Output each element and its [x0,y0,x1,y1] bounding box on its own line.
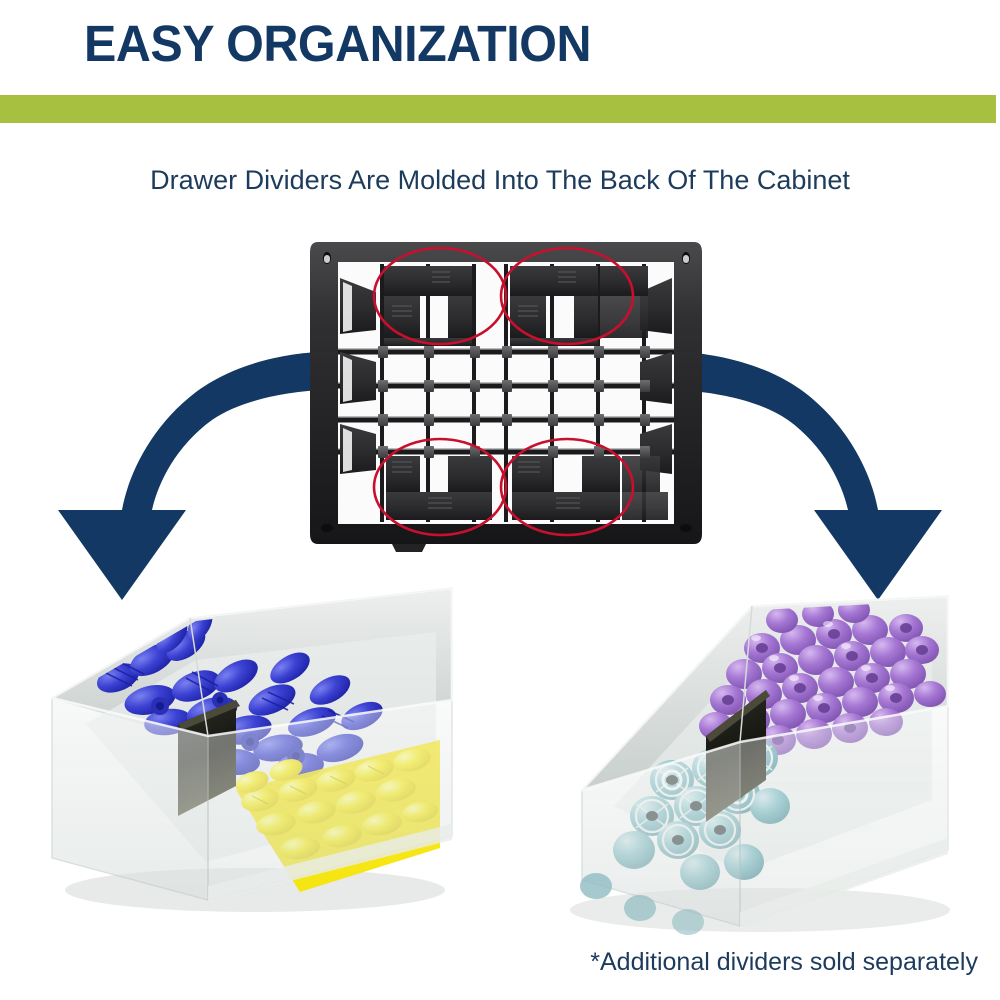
blue-anchor-contents [93,604,387,781]
grid-struts [382,264,644,522]
illustration-layer [0,0,1000,1000]
highlight-bottom-right [501,439,633,535]
highlight-bottom-left [374,439,506,535]
clear-storage-bin-left [52,588,452,912]
molded-divider-panel-bottom-right [512,456,620,520]
right-side-rails [640,278,672,474]
arrow-to-right-bin [678,352,942,600]
yellow-connector-contents [233,740,440,892]
bin-divider-left [178,700,236,816]
mounting-slots [321,252,692,532]
rail-clips [378,346,650,458]
page-title: EASY ORGANIZATION [84,18,591,69]
bead-spill-front [580,873,704,935]
clear-storage-bin-right [570,596,950,935]
footnote-text: *Additional dividers sold separately [0,948,1000,977]
molded-divider-panel-top-right [510,266,598,346]
subtitle-text: Drawer Dividers Are Molded Into The Back… [0,165,1000,196]
left-side-rails [340,278,376,474]
highlight-top-right [501,248,633,344]
divider-highlight-ellipses [374,248,633,535]
molded-divider-panel-top-left [384,262,472,346]
accent-bar [0,95,996,123]
teal-spacer-bead-contents [613,738,790,890]
parts-cabinet-graphic [310,242,702,552]
purple-bead-contents [699,597,946,760]
arrow-to-left-bin [58,352,322,600]
shelf-rails [338,352,674,452]
bin-divider-right [706,690,766,822]
infographic-canvas: EASY ORGANIZATION Drawer Dividers Are Mo… [0,0,1000,1000]
molded-divider-panel-bottom-left [386,456,492,520]
highlight-top-left [374,248,506,344]
